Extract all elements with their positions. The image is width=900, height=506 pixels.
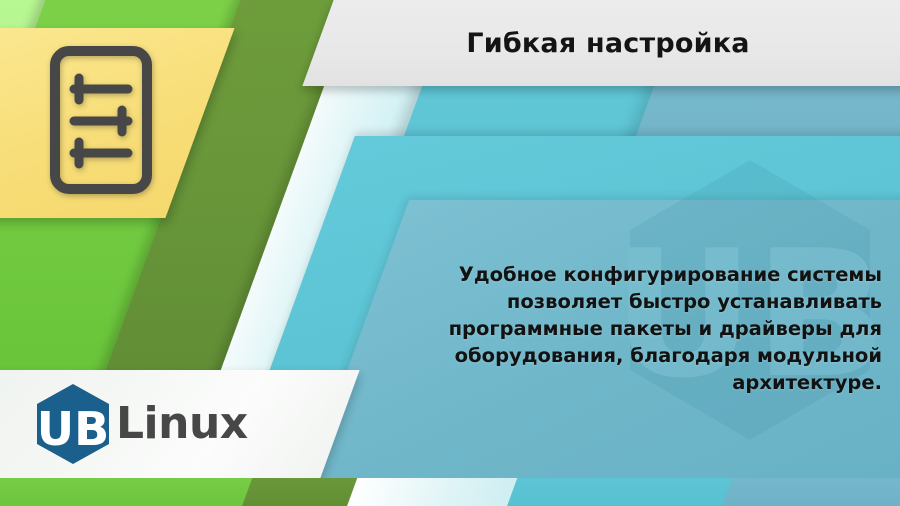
settings-sliders-icon xyxy=(48,44,154,196)
brand-name: Linux xyxy=(116,402,248,446)
ub-mark-text: UB xyxy=(37,402,109,456)
slide-canvas: UB Удобное конфигурирование системы позв… xyxy=(0,0,900,506)
bottom-strip-green xyxy=(0,478,265,506)
bottom-strip-pale-cyan xyxy=(335,478,529,506)
page-title: Гибкая настройка xyxy=(340,0,900,86)
brand-logo: UB Linux xyxy=(34,370,334,478)
ub-hexagon-logo-icon: UB xyxy=(34,383,112,465)
body-paragraph: Удобное конфигурирование системы позволя… xyxy=(402,262,882,397)
